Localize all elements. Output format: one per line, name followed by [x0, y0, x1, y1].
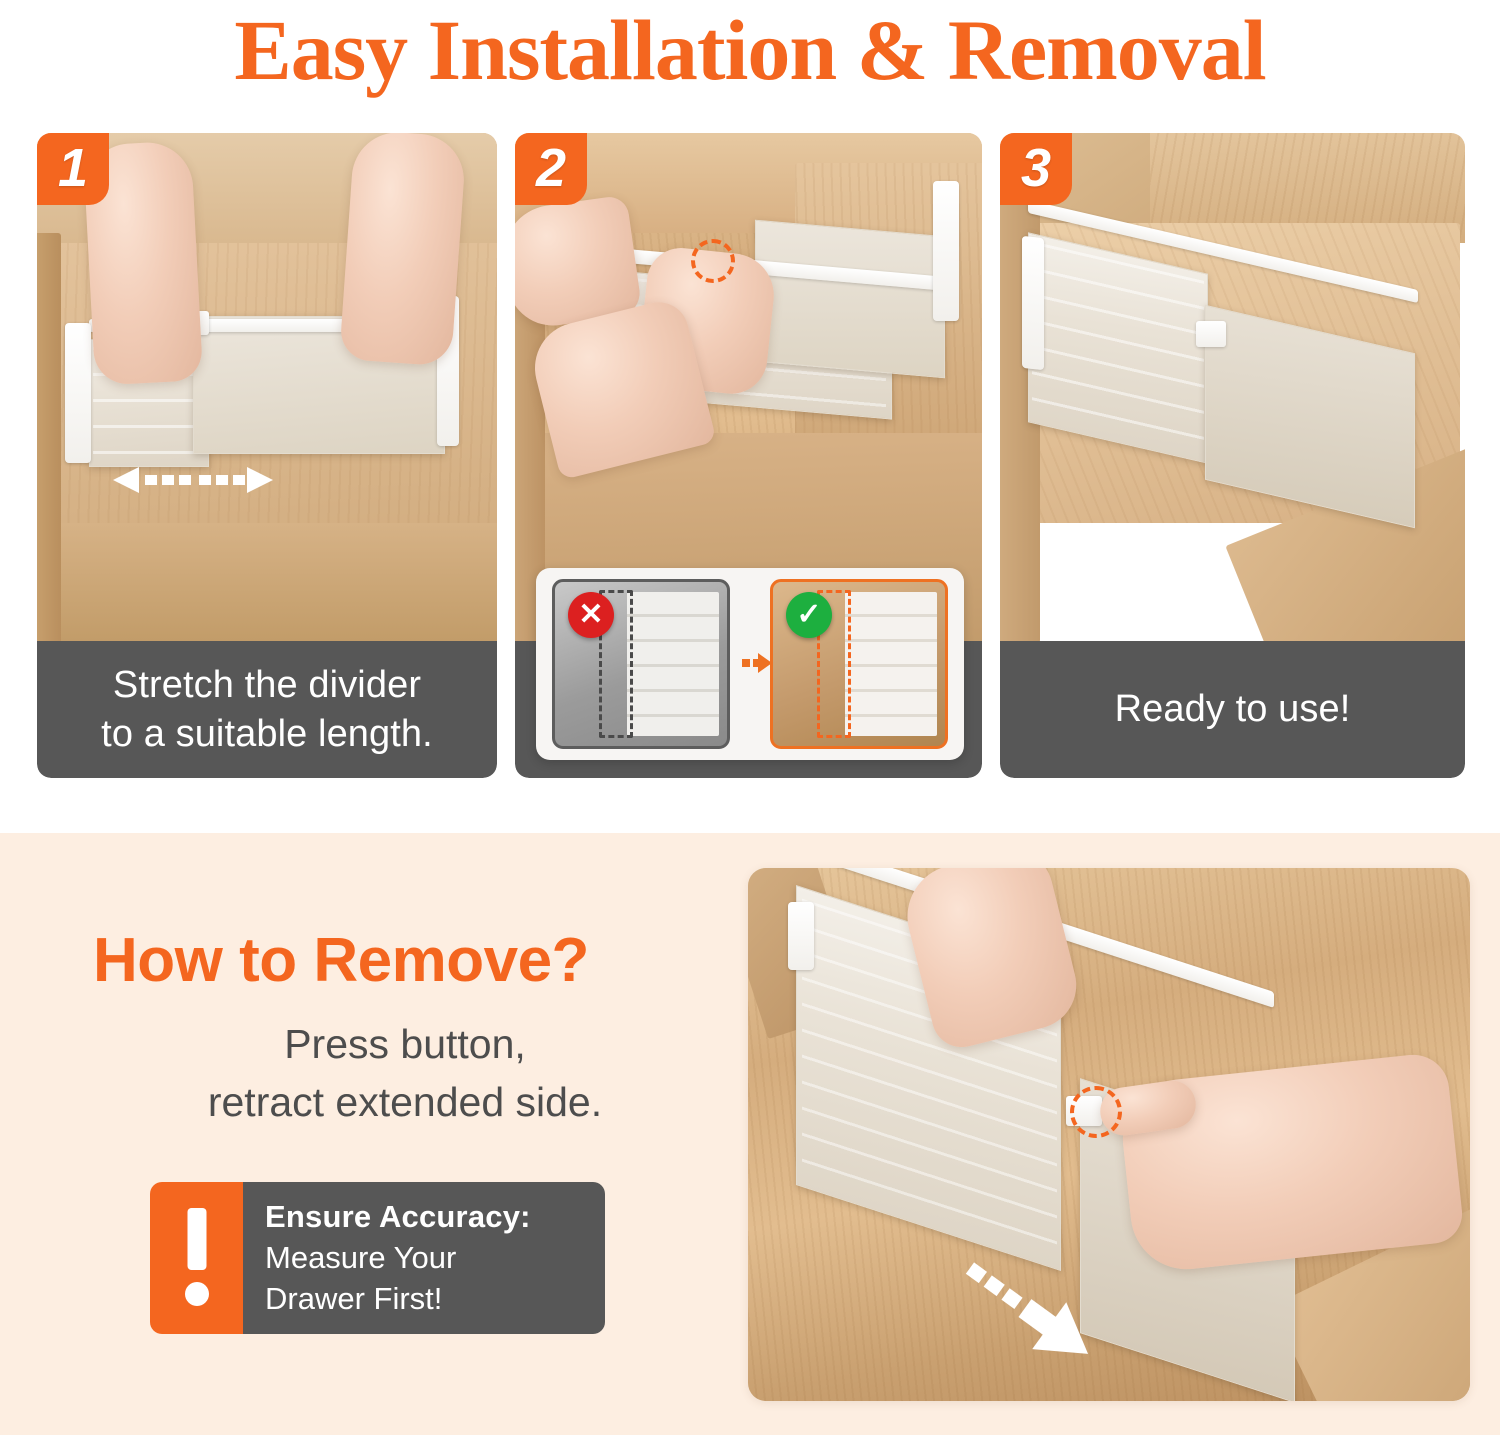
- right-hand: [339, 133, 467, 367]
- warning-heading: Ensure Accuracy:: [265, 1196, 605, 1237]
- step-3-photo: [1000, 133, 1465, 641]
- comparison-wrong: ✕: [552, 579, 730, 749]
- stretch-arrow-icon: [113, 463, 273, 497]
- x-mark-icon: ✕: [568, 592, 614, 638]
- orange-right-arrow-icon: [742, 650, 772, 676]
- removal-description: Press button, retract extended side.: [135, 1015, 675, 1131]
- step-number-badge-3: 3: [1000, 133, 1072, 205]
- check-mark-icon: ✓: [786, 592, 832, 638]
- removal-section: How to Remove? Press button, retract ext…: [0, 833, 1500, 1435]
- step-caption-1-line1: Stretch the divider: [101, 661, 433, 710]
- page-title: Easy Installation & Removal: [0, 2, 1500, 98]
- step-1-photo: [37, 133, 497, 641]
- comparison-inset: ✕ ✓: [536, 568, 964, 760]
- installation-section: Easy Installation & Removal: [0, 0, 1500, 833]
- orange-dashed-circle-highlight: [1070, 1086, 1122, 1138]
- step-card-3: 3 Ready to use!: [1000, 133, 1465, 778]
- step-caption-1-line2: to a suitable length.: [101, 710, 433, 759]
- warning-text: Ensure Accuracy: Measure Your Drawer Fir…: [243, 1182, 605, 1334]
- step-number-badge-1: 1: [37, 133, 109, 205]
- step-caption-3-line1: Ready to use!: [1115, 685, 1351, 734]
- step-caption-1: Stretch the divider to a suitable length…: [37, 641, 497, 778]
- exclamation-mark-icon: [150, 1182, 243, 1334]
- warning-line-2: Measure Your: [265, 1237, 605, 1278]
- removal-desc-line2: retract extended side.: [135, 1073, 675, 1131]
- orange-dashed-circle-highlight: [691, 239, 735, 283]
- warning-line-3: Drawer First!: [265, 1278, 605, 1319]
- removal-desc-line1: Press button,: [135, 1015, 675, 1073]
- step-number-badge-2: 2: [515, 133, 587, 205]
- step-caption-3: Ready to use!: [1000, 641, 1465, 778]
- retract-arrow-icon: [954, 1246, 1104, 1376]
- step-2-photo: [515, 133, 982, 641]
- removal-photo: [748, 868, 1470, 1401]
- step-card-2: ✕ ✓ 2 Fully stretch again to lock the en…: [515, 133, 982, 778]
- accuracy-warning-badge: Ensure Accuracy: Measure Your Drawer Fir…: [150, 1182, 605, 1334]
- divider-right-segment: [755, 220, 945, 379]
- comparison-correct: ✓: [770, 579, 948, 749]
- removal-title: How to Remove?: [93, 925, 589, 996]
- step-card-1: 1 Stretch the divider to a suitable leng…: [37, 133, 497, 778]
